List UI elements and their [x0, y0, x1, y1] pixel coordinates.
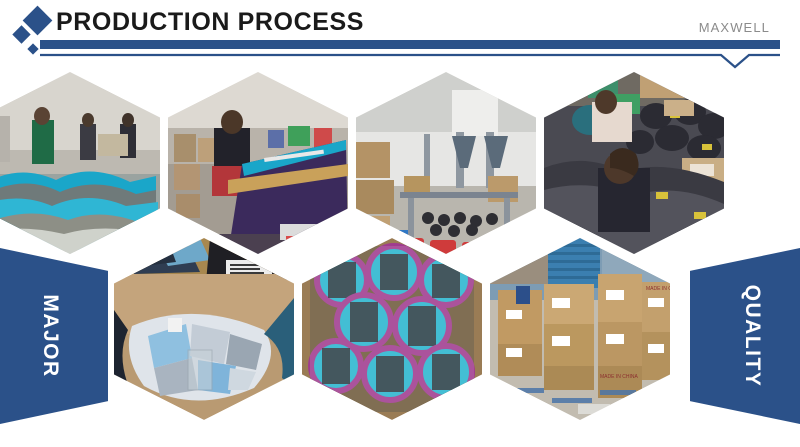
diamond-icon-medium	[12, 25, 30, 43]
page-title: PRODUCTION PROCESS	[56, 8, 364, 37]
side-panel-major-label: MAJOR	[38, 294, 62, 377]
hex-cell-bottom-0	[114, 238, 294, 420]
hex-cell-top-2	[356, 72, 536, 254]
photo-warehouse-shipment: MADE IN CHINA MADE IN CHINA	[490, 238, 670, 420]
hex-cell-top-0	[0, 72, 160, 254]
hex-cell-top-3	[544, 72, 724, 254]
photo-finished-product	[114, 238, 294, 420]
svg-text:MADE IN CHINA: MADE IN CHINA	[600, 374, 638, 380]
photo-packing-bags	[544, 72, 724, 254]
svg-text:MADE IN CHINA: MADE IN CHINA	[646, 286, 670, 292]
brand-name: MAXWELL	[699, 20, 770, 35]
photo-assembly-line	[356, 72, 536, 254]
hex-cell-top-1	[168, 72, 348, 254]
header-rule-thick	[40, 40, 780, 49]
side-panel-quality-label: QUALITY	[740, 285, 764, 388]
hex-cell-bottom-1	[302, 238, 482, 420]
photo-sorting-garments	[0, 72, 160, 254]
hex-cell-bottom-2: MADE IN CHINA MADE IN CHINA	[490, 238, 670, 420]
side-panel-quality: QUALITY	[690, 248, 800, 424]
production-process-slide: PRODUCTION PROCESS MAXWELL	[0, 0, 800, 447]
photo-fabric-cutting	[168, 72, 348, 254]
photo-packaged-balls	[302, 238, 482, 420]
diamond-icon-small	[27, 43, 38, 54]
side-panel-major: MAJOR	[0, 248, 108, 424]
header-rule-thin	[40, 52, 780, 70]
header: PRODUCTION PROCESS MAXWELL	[0, 0, 800, 70]
header-rule-notch-icon	[40, 52, 780, 70]
